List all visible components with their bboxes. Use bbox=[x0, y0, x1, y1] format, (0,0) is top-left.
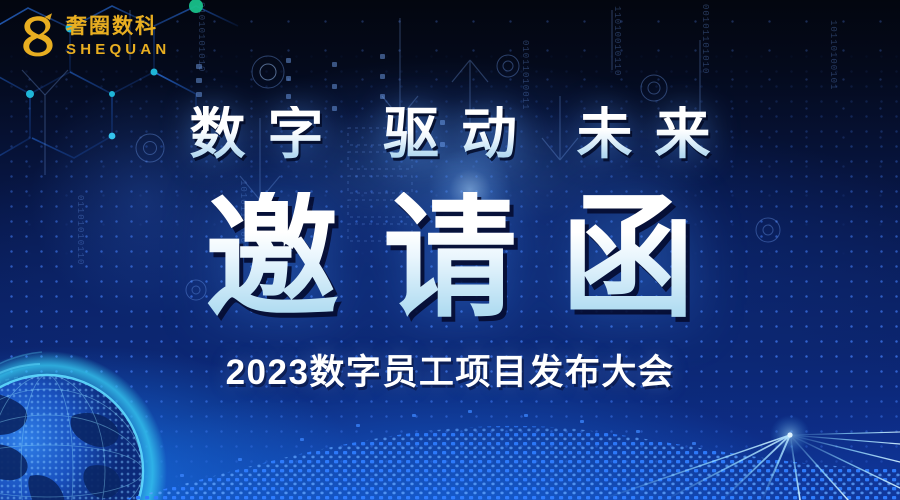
logo-wordmark: 奢圈数科 SHEQUAN bbox=[66, 16, 170, 57]
page-title: 邀请函 bbox=[0, 192, 900, 326]
shequan-monogram-icon bbox=[14, 12, 58, 60]
logo-en-name: SHEQUAN bbox=[66, 42, 170, 57]
invitation-banner: 01010101010 10101101001 01101010110 1001… bbox=[0, 0, 900, 500]
event-subtitle: 2023数字员工项目发布大会 bbox=[0, 355, 900, 390]
logo-cn-name: 奢圈数科 bbox=[66, 16, 170, 37]
tagline: 数字 驱动 未来 bbox=[0, 106, 900, 162]
brand-logo[interactable]: 奢圈数科 SHEQUAN bbox=[14, 12, 170, 60]
